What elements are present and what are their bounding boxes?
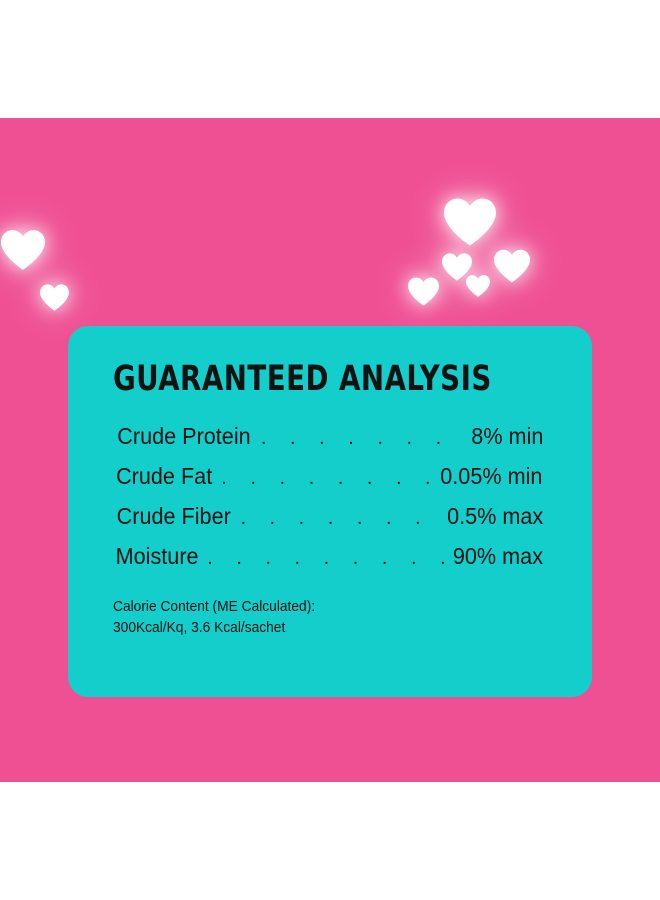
dot-leader-dots: . . . . . . . . . . . . . . . . . . . . … bbox=[207, 548, 444, 564]
calorie-content-value: 300Kcal/Kq, 3.6 Kcal/sachet bbox=[113, 618, 315, 639]
dot-leader: . . . . . . . . . . . . . . . . . . . . … bbox=[221, 462, 431, 484]
calorie-content-heading: Calorie Content (ME Calculated): bbox=[113, 597, 315, 618]
dot-leader-dots: . . . . . . . . . . . . . . . . . . . . … bbox=[261, 428, 463, 444]
heart-right-medium-icon bbox=[494, 248, 530, 284]
analysis-row-crude-protein: Crude Protein . . . . . . . . . . . . . … bbox=[113, 422, 546, 462]
dot-leader: . . . . . . . . . . . . . . . . . . . . … bbox=[207, 542, 444, 564]
analysis-row-crude-fiber: Crude Fiber . . . . . . . . . . . . . . … bbox=[113, 502, 546, 542]
analysis-row-label: Moisture bbox=[116, 543, 199, 570]
heart-right-large-icon bbox=[444, 196, 496, 248]
dot-leader: . . . . . . . . . . . . . . . . . . . . … bbox=[261, 422, 463, 444]
analysis-row-crude-fat: Crude Fat . . . . . . . . . . . . . . . … bbox=[113, 462, 546, 502]
analysis-row-moisture: Moisture . . . . . . . . . . . . . . . .… bbox=[113, 542, 546, 582]
analysis-row-value: 0.5% max bbox=[447, 503, 543, 530]
heart-left-small-icon bbox=[40, 283, 69, 312]
dot-leader: . . . . . . . . . . . . . . . . . . . . … bbox=[240, 502, 437, 524]
calorie-content-block: Calorie Content (ME Calculated): 300Kcal… bbox=[113, 597, 315, 639]
analysis-row-value: 0.05% min bbox=[441, 463, 543, 490]
analysis-row-label: Crude Protein bbox=[117, 423, 250, 450]
heart-right-tiny-icon bbox=[466, 274, 490, 298]
dot-leader-dots: . . . . . . . . . . . . . . . . . . . . … bbox=[240, 508, 437, 524]
dot-leader-dots: . . . . . . . . . . . . . . . . . . . . … bbox=[221, 468, 431, 484]
product-label-image: GUARANTEED ANALYSIS Crude Protein . . . … bbox=[0, 0, 660, 900]
guaranteed-analysis-card: GUARANTEED ANALYSIS Crude Protein . . . … bbox=[68, 326, 592, 697]
analysis-row-value: 8% min bbox=[472, 423, 544, 450]
analysis-rows-list: Crude Protein . . . . . . . . . . . . . … bbox=[113, 422, 546, 582]
page-title: GUARANTEED ANALYSIS bbox=[113, 362, 492, 397]
analysis-row-value: 90% max bbox=[453, 543, 543, 570]
heart-left-large-icon bbox=[1, 228, 45, 272]
analysis-row-label: Crude Fat bbox=[116, 463, 212, 490]
heart-right-small-lower-icon bbox=[408, 276, 439, 307]
analysis-row-label: Crude Fiber bbox=[117, 503, 231, 530]
